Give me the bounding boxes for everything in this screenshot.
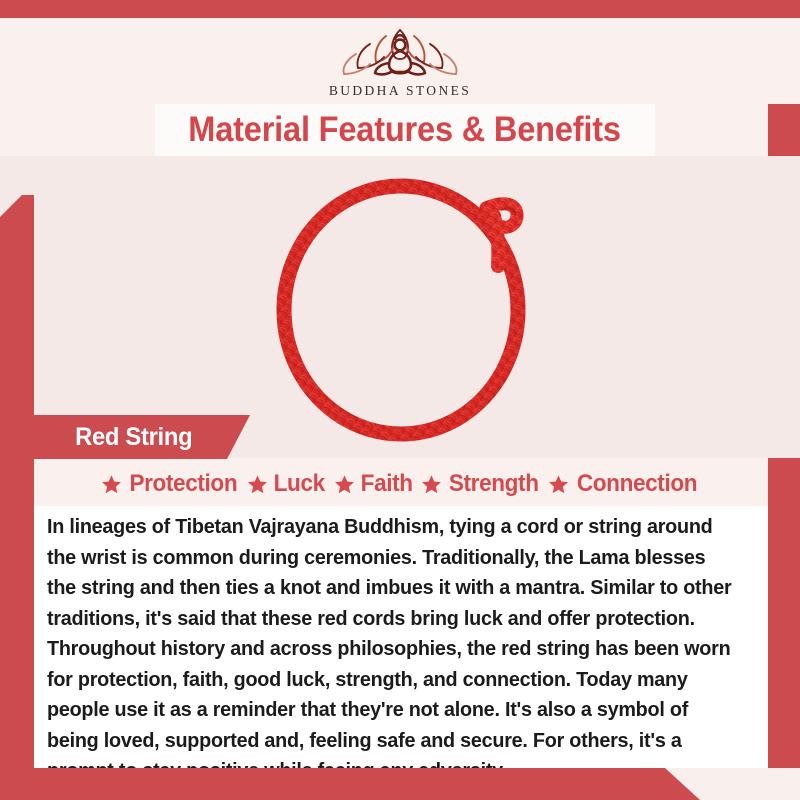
description-text: In lineages of Tibetan Vajrayana Buddhis… — [47, 512, 734, 787]
brand-header: BUDDHA STONES — [0, 18, 800, 104]
red-string-bracelet-image — [258, 170, 558, 445]
product-label: Red String — [75, 423, 192, 452]
benefit-item-connection: Connection — [548, 470, 701, 498]
title-band: Material Features & Benefits — [155, 104, 655, 156]
star-icon — [548, 474, 569, 495]
lotus-meditation-figure-icon — [336, 20, 464, 82]
benefit-list: Protection Luck Faith Strength Connectio… — [34, 462, 768, 506]
product-label-banner: Red String — [0, 415, 250, 459]
benefit-label: Protection — [129, 470, 237, 498]
brand-wordmark: BUDDHA STONES — [329, 83, 471, 99]
benefit-label: Connection — [577, 470, 697, 498]
star-icon — [247, 474, 268, 495]
benefit-item-protection: Protection — [101, 470, 241, 498]
product-infographic: BUDDHA STONES Material Features & Benefi… — [0, 0, 800, 800]
frame-top-bar — [0, 0, 800, 18]
benefit-item-luck: Luck — [247, 470, 326, 498]
benefit-label: Strength — [449, 470, 539, 498]
description-block: In lineages of Tibetan Vajrayana Buddhis… — [34, 506, 768, 768]
benefit-label: Faith — [360, 470, 412, 498]
star-icon — [421, 474, 442, 495]
frame-left-bar — [0, 195, 34, 800]
product-photo-area — [0, 156, 800, 458]
benefit-item-faith: Faith — [334, 470, 414, 498]
page-title: Material Features & Benefits — [189, 110, 622, 150]
benefit-label: Luck — [274, 470, 325, 498]
star-icon — [101, 474, 122, 495]
benefit-item-strength: Strength — [421, 470, 541, 498]
star-icon — [334, 474, 355, 495]
